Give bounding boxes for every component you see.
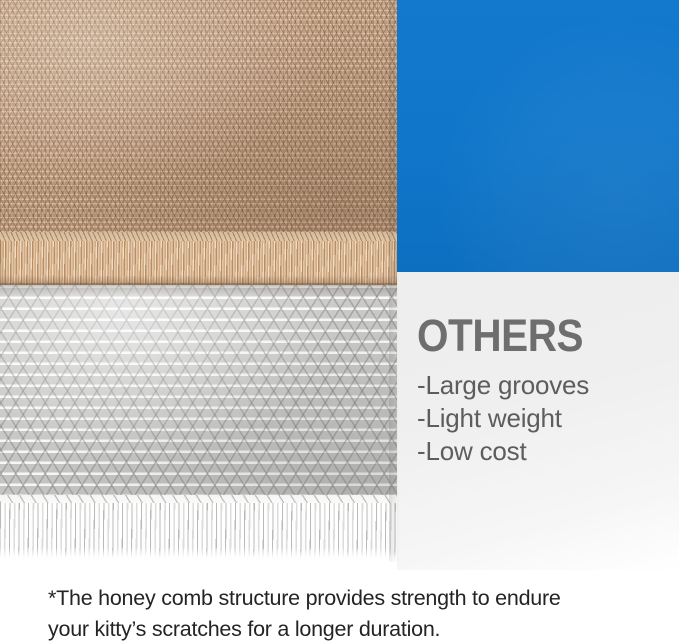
our-product-panel: OUR PRODUCT -Highest density -Much sturd… (397, 0, 679, 272)
others-bullet-1: -Large grooves (417, 369, 673, 402)
comparison-infographic: OUR PRODUCT -Highest density -Much sturd… (0, 0, 679, 643)
footnote-caption-line-1: *The honey comb structure provides stren… (48, 583, 656, 614)
tan-honeycomb-mat-edge (0, 232, 397, 285)
footnote-caption: *The honey comb structure provides stren… (48, 583, 656, 643)
others-panel: OTHERS -Large grooves -Light weight -Low… (397, 272, 679, 570)
tan-honeycomb-mat-surface (0, 0, 397, 232)
others-heading: OTHERS (417, 313, 647, 359)
others-bullet-3: -Low cost (417, 435, 673, 468)
gray-honeycomb-mat-surface (0, 285, 397, 497)
gray-honeycomb-mat-edge (0, 495, 397, 561)
others-text-block: OTHERS -Large grooves -Light weight -Low… (417, 313, 673, 468)
others-bullet-2: -Light weight (417, 402, 673, 435)
footnote-caption-line-2: your kitty’s scratches for a longer dura… (48, 614, 656, 643)
